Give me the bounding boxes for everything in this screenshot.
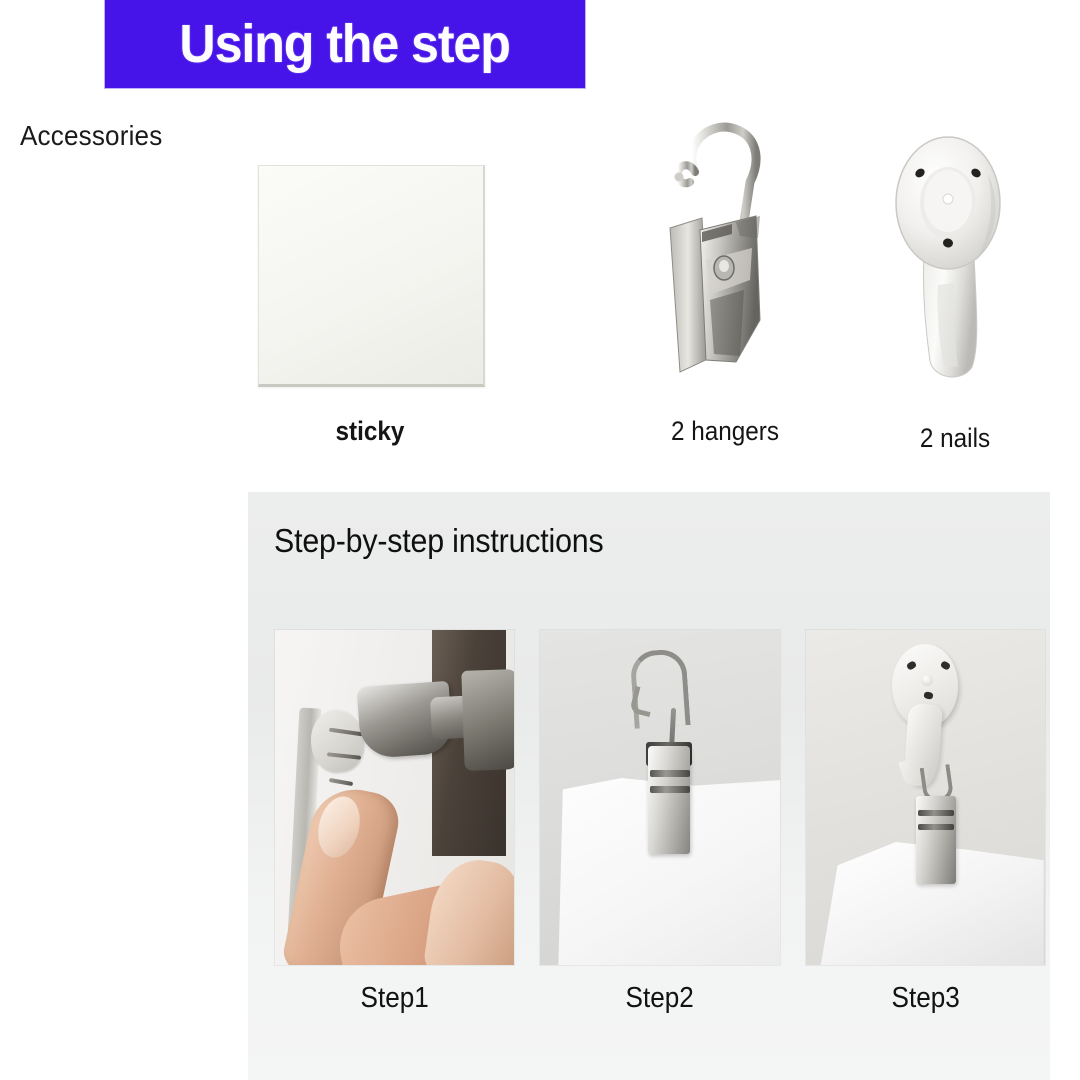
- plate-dimple: [921, 674, 933, 686]
- wall-hook-nail-icon: [880, 135, 1030, 390]
- clip-hanger-icon: [640, 110, 810, 390]
- accessories-heading: Accessories: [20, 120, 162, 152]
- accessory-caption-hangers: 2 hangers: [631, 418, 820, 445]
- hammer-claw: [461, 669, 514, 771]
- clip-band: [918, 824, 954, 830]
- step-image-1: [275, 630, 514, 965]
- clip-band: [650, 770, 690, 777]
- accessory-caption-nails: 2 nails: [874, 425, 1036, 452]
- step-caption-row: Step1 Step2 Step3: [275, 984, 1045, 1013]
- step-image-3: [806, 630, 1045, 965]
- step-image-2: [540, 630, 779, 965]
- product-instruction-graphic: Using the step Accessories sticky: [0, 0, 1080, 1080]
- step-caption-2: Step2: [552, 984, 767, 1013]
- step-by-step-heading: Step-by-step instructions: [274, 522, 604, 560]
- clip-band: [918, 810, 954, 816]
- step-caption-3: Step3: [818, 984, 1033, 1013]
- clip-body: [648, 746, 690, 854]
- page-title: Using the step: [180, 17, 510, 71]
- adhesive-pad-icon: [258, 165, 485, 387]
- step-caption-1: Step1: [287, 984, 502, 1013]
- clip-band: [650, 786, 690, 793]
- title-banner: Using the step: [105, 0, 585, 88]
- step-image-grid: [275, 630, 1045, 965]
- accessory-caption-sticky: sticky: [269, 418, 471, 445]
- step-by-step-panel: Step-by-step instructions: [248, 492, 1050, 1080]
